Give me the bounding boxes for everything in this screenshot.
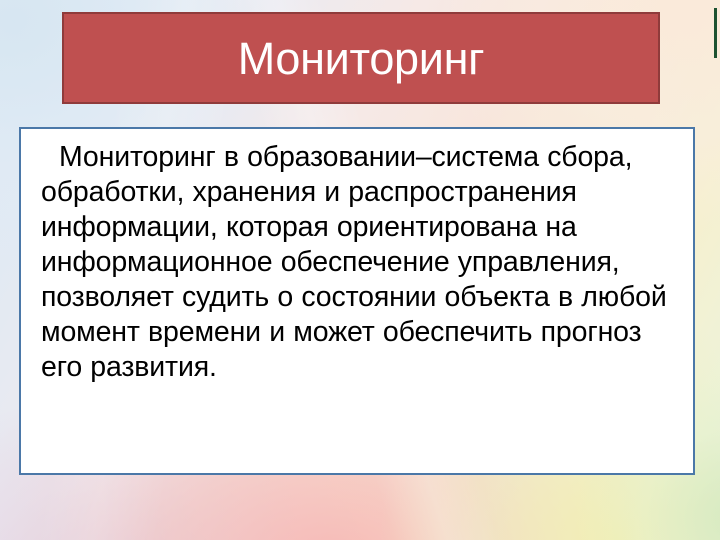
presentation-slide: Мониторинг Мониторинг в образовании–сист… xyxy=(0,0,720,540)
slide-body-text: Мониторинг в образовании–система сбора, … xyxy=(41,140,679,385)
slide-title-box: Мониторинг xyxy=(62,12,660,104)
slide-title-text: Мониторинг xyxy=(238,36,485,81)
right-edge-rule xyxy=(714,8,717,58)
slide-body-box: Мониторинг в образовании–система сбора, … xyxy=(19,127,695,475)
